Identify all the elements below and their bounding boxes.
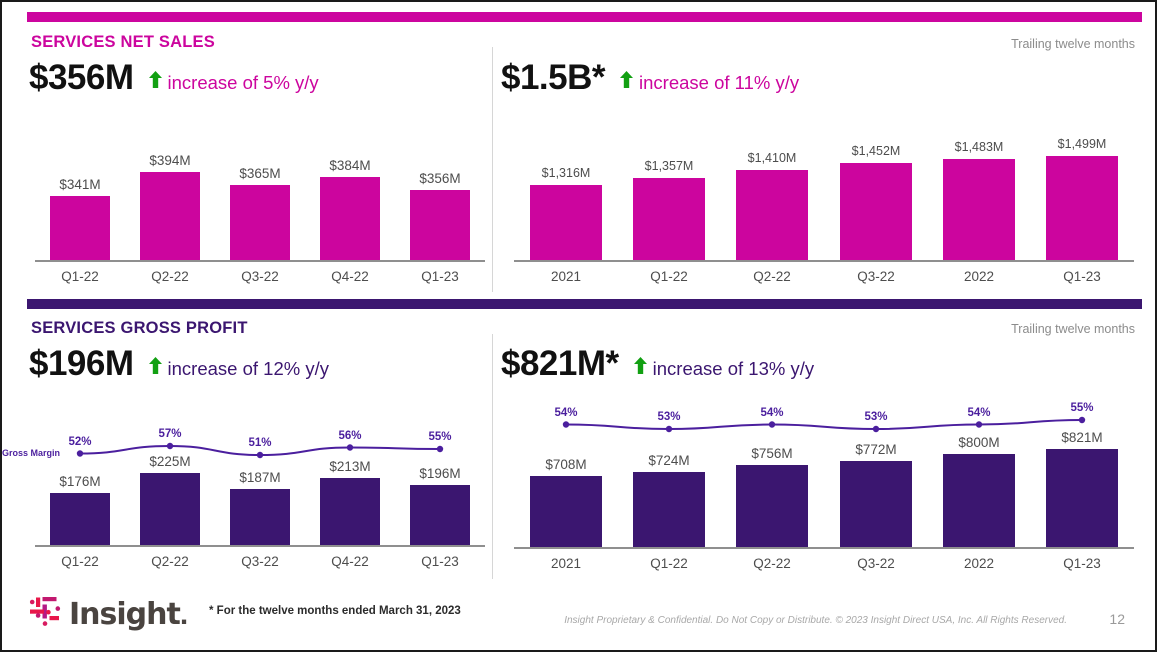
chart-x-axis-label: Q3-22 [816, 269, 936, 284]
chart-bar [50, 196, 110, 260]
chart-x-axis-label: 2021 [506, 556, 626, 571]
chart-x-axis-label: Q1-22 [609, 556, 729, 571]
chart-x-axis-label: Q1-23 [380, 269, 500, 284]
chart-bar-value-label: $800M [919, 435, 1039, 450]
kpi-value-net-sales-ttm: $1.5B* [501, 58, 605, 98]
chart-bar [320, 177, 380, 260]
up-arrow-icon [633, 357, 648, 379]
chart-bar-value-label: $356M [380, 171, 500, 186]
trailing-label-net-sales: Trailing twelve months [835, 37, 1135, 51]
chart-bar [140, 172, 200, 260]
chart-bar [230, 185, 290, 260]
chart-bar [530, 476, 602, 547]
kpi-value-gross-profit-ttm: $821M* [501, 344, 619, 384]
chart-bar-value-label: $756M [712, 446, 832, 461]
trailing-label-gross-profit: Trailing twelve months [835, 322, 1135, 336]
gross-margin-value-label: 52% [30, 436, 130, 448]
chart-bar-value-label: $225M [110, 454, 230, 469]
kpi-net-sales: $356M increase of 5% y/y [29, 58, 319, 98]
brand-logo-period: . [180, 598, 188, 632]
chart-bar [530, 185, 602, 260]
chart-x-axis-label: 2021 [506, 269, 626, 284]
gross-margin-series-label: Gross Margin [2, 448, 60, 458]
accent-bar-pink [27, 12, 1142, 22]
chart-bar [633, 178, 705, 260]
chart-bar-value-label: $772M [816, 442, 936, 457]
kpi-delta-net-sales: increase of 5% y/y [168, 72, 319, 94]
legal-notice: Insight Proprietary & Confidential. Do N… [564, 615, 1067, 626]
chart-x-axis-label: 2022 [919, 269, 1039, 284]
chart-x-axis-label: Q1-23 [1022, 556, 1142, 571]
chart-x-axis-label: Q3-22 [816, 556, 936, 571]
accent-bar-purple [27, 299, 1142, 309]
chart-bar-value-label: $724M [609, 453, 729, 468]
up-arrow-icon [619, 71, 634, 93]
section-title-net-sales: SERVICES NET SALES [31, 33, 215, 52]
chart-bar [840, 163, 912, 260]
kpi-gross-profit-ttm: $821M* increase of 13% y/y [501, 344, 814, 384]
kpi-value-net-sales: $356M [29, 58, 134, 98]
kpi-delta-gross-profit: increase of 12% y/y [168, 358, 329, 380]
chart-bar-value-label: $1,499M [1022, 137, 1142, 151]
chart-bar-value-label: $1,357M [609, 159, 729, 173]
gross-margin-value-label: 54% [516, 407, 616, 419]
gross-margin-value-label: 53% [619, 411, 719, 423]
chart-bar [1046, 156, 1118, 260]
chart-bar [943, 159, 1015, 260]
chart-services-net-sales-quarterly: $341MQ1-22$394MQ2-22$365MQ3-22$384MQ4-22… [35, 142, 485, 292]
chart-bar [943, 454, 1015, 547]
chart-x-axis-label: Q1-23 [380, 554, 500, 569]
chart-bar-value-label: $1,316M [506, 166, 626, 180]
chart-axis-line [35, 260, 485, 262]
gross-margin-value-label: 53% [826, 411, 926, 423]
panel-divider-bottom [492, 334, 493, 579]
chart-axis-line [514, 260, 1134, 262]
brand-logo-text: Insight [69, 597, 180, 632]
gross-margin-value-label: 55% [390, 431, 490, 443]
kpi-delta-gross-profit-ttm: increase of 13% y/y [653, 358, 814, 380]
chart-bar [410, 190, 470, 260]
chart-bar-value-label: $1,452M [816, 144, 936, 158]
chart-bar [840, 461, 912, 547]
kpi-value-gross-profit: $196M [29, 344, 134, 384]
chart-bar [50, 493, 110, 545]
chart-bar-value-label: $708M [506, 457, 626, 472]
chart-bar [140, 473, 200, 545]
chart-services-gross-profit-quarterly: $176MQ1-22$225MQ2-22$187MQ3-22$213MQ4-22… [35, 422, 485, 577]
brand-logo: Insight . [29, 596, 188, 633]
chart-bar-value-label: $821M [1022, 430, 1142, 445]
chart-bar [736, 170, 808, 260]
kpi-delta-net-sales-ttm: increase of 11% y/y [639, 72, 799, 94]
chart-bar-value-label: $1,483M [919, 140, 1039, 154]
chart-bar [410, 485, 470, 545]
chart-x-axis-label: Q2-22 [712, 269, 832, 284]
page-number: 12 [1109, 611, 1125, 627]
chart-bar-value-label: $341M [20, 177, 140, 192]
kpi-net-sales-ttm: $1.5B* increase of 11% y/y [501, 58, 799, 98]
gross-margin-value-label: 57% [120, 428, 220, 440]
section-title-gross-profit: SERVICES GROSS PROFIT [31, 319, 248, 338]
insight-logo-icon [29, 596, 63, 633]
chart-x-axis-label: Q2-22 [712, 556, 832, 571]
chart-bar-value-label: $176M [20, 474, 140, 489]
chart-x-axis-label: Q1-23 [1022, 269, 1142, 284]
chart-bar [1046, 449, 1118, 547]
gross-margin-value-label: 56% [300, 430, 400, 442]
chart-services-net-sales-ttm: $1,316M2021$1,357MQ1-22$1,410MQ2-22$1,45… [514, 132, 1134, 292]
chart-bar-value-label: $1,410M [712, 151, 832, 165]
chart-x-axis-label: 2022 [919, 556, 1039, 571]
chart-x-axis-label: Q1-22 [609, 269, 729, 284]
chart-bar [230, 489, 290, 545]
gross-margin-value-label: 54% [722, 407, 822, 419]
chart-bar-value-label: $196M [380, 466, 500, 481]
gross-margin-value-label: 54% [929, 407, 1029, 419]
chart-axis-line [514, 547, 1134, 549]
up-arrow-icon [148, 71, 163, 93]
gross-margin-value-label: 51% [210, 437, 310, 449]
kpi-gross-profit: $196M increase of 12% y/y [29, 344, 329, 384]
slide: SERVICES NET SALES Trailing twelve month… [0, 0, 1157, 652]
footnote: * For the twelve months ended March 31, … [209, 605, 461, 617]
panel-divider-top [492, 47, 493, 292]
chart-axis-line [35, 545, 485, 547]
gross-margin-value-label: 55% [1032, 402, 1132, 414]
chart-bar [320, 478, 380, 545]
chart-bar [736, 465, 808, 547]
up-arrow-icon [148, 357, 163, 379]
chart-bar [633, 472, 705, 547]
chart-services-gross-profit-ttm: $708M2021$724MQ1-22$756MQ2-22$772MQ3-22$… [514, 390, 1134, 578]
